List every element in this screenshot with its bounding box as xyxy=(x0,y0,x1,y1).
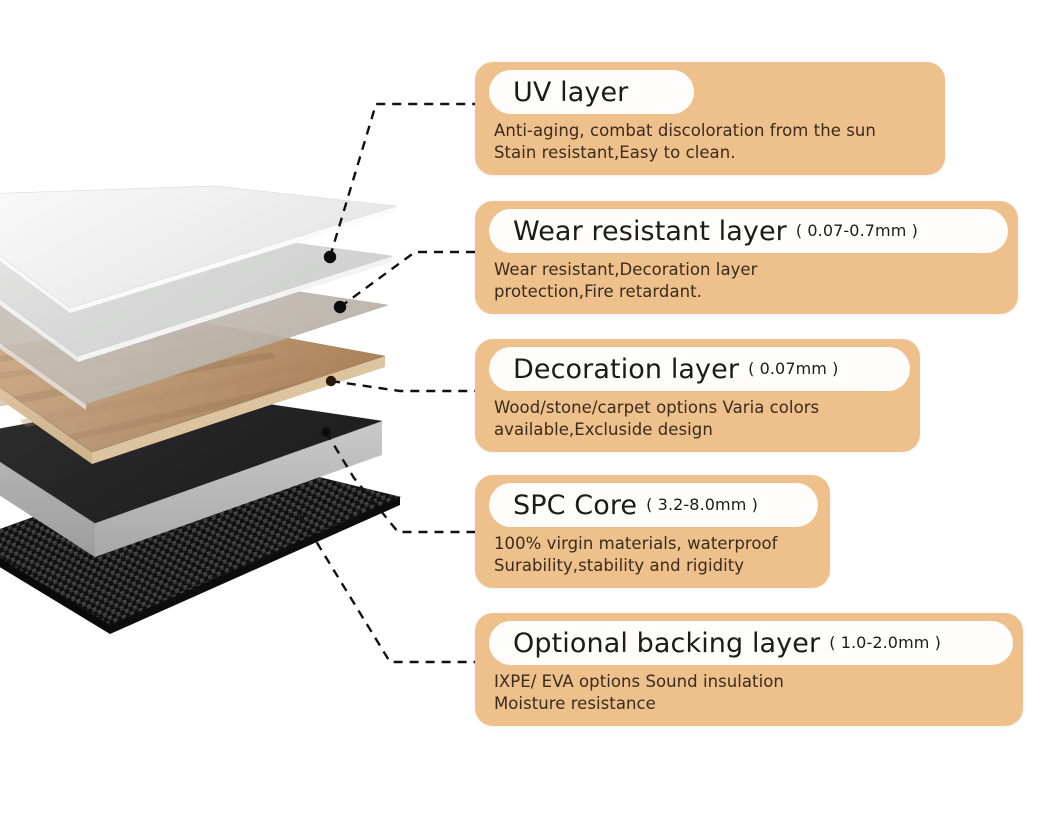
dot-wear-resistant xyxy=(334,301,346,313)
callout-spc-core-description: 100% virgin materials, waterproof Surabi… xyxy=(494,533,778,578)
callout-wear-resistant-layer-title: Wear resistant layer xyxy=(513,218,787,245)
callout-optional-backing-layer-pill: Optional backing layer ( 1.0-2.0mm ) xyxy=(489,621,1013,665)
callout-optional-backing-layer-title: Optional backing layer xyxy=(513,630,820,657)
callout-decoration-layer-pill: Decoration layer ( 0.07mm ) xyxy=(489,347,910,391)
callout-uv-layer-title: UV layer xyxy=(513,79,628,106)
callout-uv-layer[interactable]: UV layer Anti-aging, combat discoloratio… xyxy=(475,62,945,175)
callout-wear-resistant-layer[interactable]: Wear resistant layer ( 0.07-0.7mm ) Wear… xyxy=(475,201,1018,314)
callout-wear-resistant-layer-spec: ( 0.07-0.7mm ) xyxy=(796,223,918,239)
callout-decoration-layer-spec: ( 0.07mm ) xyxy=(748,361,838,377)
callout-optional-backing-layer-description: IXPE/ EVA options Sound insulation Moist… xyxy=(494,671,784,716)
callout-optional-backing-layer-spec: ( 1.0-2.0mm ) xyxy=(829,635,941,651)
callout-wear-resistant-layer-description: Wear resistant,Decoration layer protecti… xyxy=(494,259,757,304)
leader-uv-layer xyxy=(330,104,475,257)
callout-decoration-layer-title: Decoration layer xyxy=(513,356,739,383)
leader-decoration xyxy=(331,381,475,391)
callout-uv-layer-pill: UV layer xyxy=(489,70,694,114)
dot-spc-core xyxy=(321,427,330,436)
diagram-canvas: UV layer Anti-aging, combat discoloratio… xyxy=(0,0,1060,817)
callout-uv-layer-description: Anti-aging, combat discoloration from th… xyxy=(494,120,876,165)
callout-optional-backing-layer[interactable]: Optional backing layer ( 1.0-2.0mm ) IXP… xyxy=(475,613,1023,726)
callout-decoration-layer-description: Wood/stone/carpet options Varia colors a… xyxy=(494,397,819,442)
dot-uv-layer xyxy=(324,251,336,263)
flooring-layer-illustration xyxy=(0,0,520,817)
callout-spc-core-spec: ( 3.2-8.0mm ) xyxy=(646,497,758,513)
callout-spc-core[interactable]: SPC Core ( 3.2-8.0mm ) 100% virgin mater… xyxy=(475,475,830,588)
callout-wear-resistant-layer-pill: Wear resistant layer ( 0.07-0.7mm ) xyxy=(489,209,1008,253)
callout-spc-core-title: SPC Core xyxy=(513,492,637,519)
callout-spc-core-pill: SPC Core ( 3.2-8.0mm ) xyxy=(489,483,818,527)
dot-decoration xyxy=(326,376,336,386)
callout-decoration-layer[interactable]: Decoration layer ( 0.07mm ) Wood/stone/c… xyxy=(475,339,920,452)
